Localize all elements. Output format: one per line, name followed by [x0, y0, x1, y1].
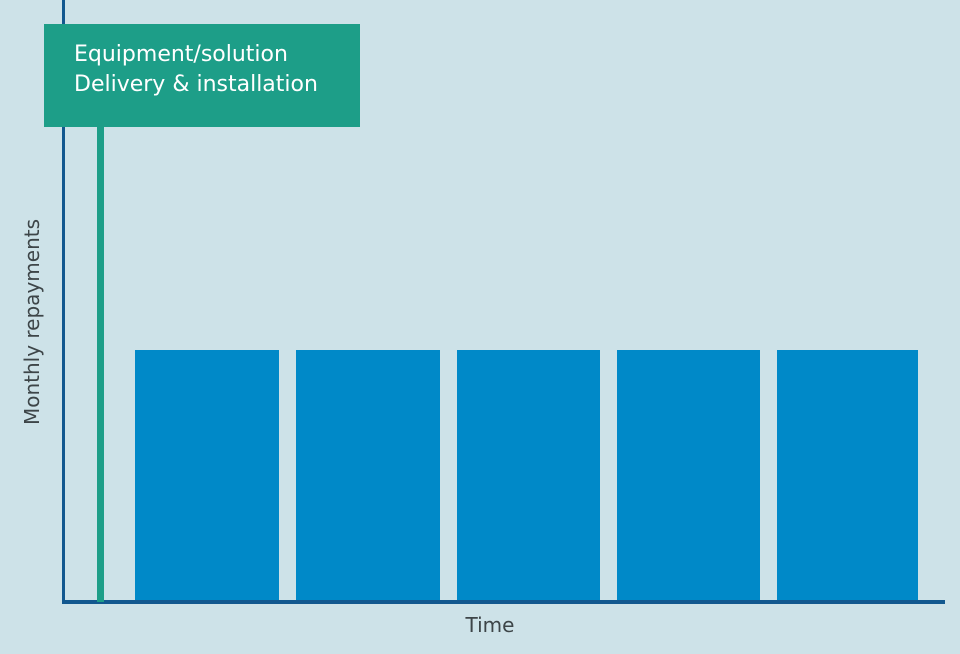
y-axis-title: Monthly repayments — [20, 197, 44, 447]
bar — [777, 350, 918, 601]
x-axis-line — [62, 600, 945, 604]
bar — [617, 350, 760, 601]
x-axis-title: Time — [0, 613, 960, 637]
milestone-label-line-1: Equipment/solution — [74, 40, 360, 70]
bar — [135, 350, 279, 601]
bar — [457, 350, 600, 601]
bar — [296, 350, 440, 601]
milestone-label-line-2: Delivery & installation — [74, 70, 360, 100]
milestone-label-box: Equipment/solution Delivery & installati… — [44, 24, 360, 127]
bar-chart: Equipment/solution Delivery & installati… — [0, 0, 960, 654]
